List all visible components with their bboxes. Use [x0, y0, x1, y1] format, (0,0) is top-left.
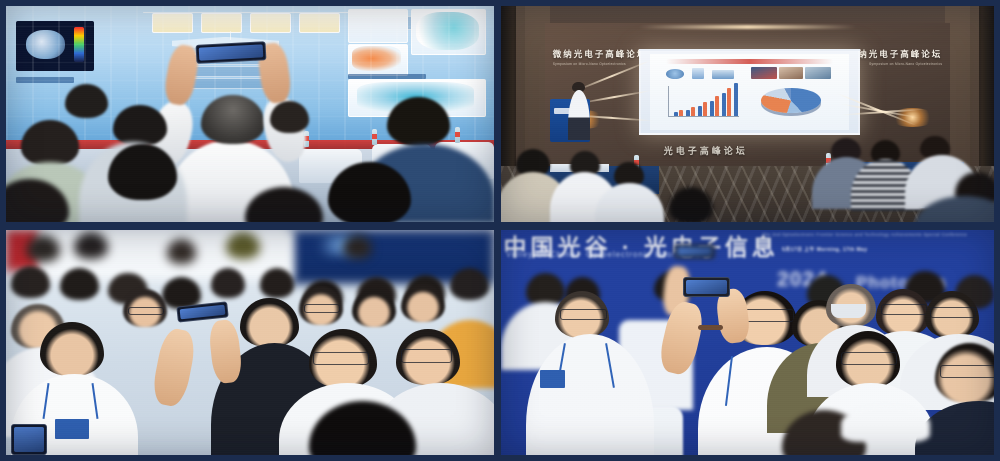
slide-icon-2 [692, 68, 704, 79]
slide-card-4 [299, 13, 340, 33]
audience-head [108, 144, 176, 200]
slide-icon-1 [666, 69, 684, 79]
chart-bar [698, 106, 702, 117]
glasses [128, 307, 164, 316]
led-presentation-screen: AR/VR——虚实融合与人机交互，将成为下一代移动计算平台 [639, 49, 860, 135]
chart-bar [715, 96, 719, 116]
audience-head [11, 266, 50, 298]
glasses [560, 309, 606, 320]
audience-head [60, 268, 99, 300]
slide-photo-3 [805, 67, 831, 78]
chart-bar [686, 110, 690, 117]
stage-banner-left-cn: 微纳光电子高峰论坛 [553, 48, 648, 60]
slide-label-left [16, 77, 75, 83]
chart-bar [679, 110, 683, 117]
audience-head [270, 101, 309, 133]
wall-panel-right [945, 6, 980, 174]
slide-photo-1 [751, 67, 777, 78]
collage-panel-bottom-left: Dense seated audience at an exhibition, … [0, 226, 497, 461]
slide-image-cell-1 [348, 9, 409, 43]
audience-head [226, 232, 260, 259]
chart-x-axis [668, 116, 740, 117]
glasses [401, 349, 452, 362]
smartphone-back [674, 244, 715, 260]
audience-head [21, 120, 80, 165]
slide-connector-v [230, 31, 231, 40]
slide-card-1 [152, 13, 193, 33]
slide-sim-shape-teal [416, 12, 479, 50]
slide-image-cell-2 [348, 44, 409, 75]
thermal-blob [26, 30, 65, 59]
glasses [304, 304, 340, 313]
photo-conference-hall-stage: Conference hall with speaker at podium a… [501, 6, 994, 222]
slide-card-3 [250, 13, 291, 33]
wrist-bracelet [698, 325, 723, 331]
audience-head [74, 232, 108, 259]
smartphone-top-left [196, 41, 267, 64]
collage-panel-top-left: Audience photographing a large blue tech… [0, 0, 497, 226]
audience-head [26, 235, 60, 262]
white-cap [841, 406, 930, 442]
photo-audience-technical-screen: Audience photographing a large blue tech… [6, 6, 494, 222]
audience-head [113, 105, 167, 146]
chart-bar [722, 93, 726, 116]
glasses [940, 365, 994, 378]
glasses [841, 352, 897, 365]
chart-bar [710, 101, 714, 117]
thermal-colorbar [74, 27, 84, 62]
presentation-slide: AR/VR——虚实融合与人机交互，将成为下一代移动计算平台 [650, 54, 850, 130]
slide-label-right [348, 74, 426, 79]
collage-panel-bottom-right: Audience in front of a blue conference b… [497, 226, 1000, 461]
stage-banner-right-cn: 微纳光电子高峰论坛 [848, 48, 943, 60]
slide-sim-shape-orange [352, 46, 401, 71]
name-badge [540, 370, 565, 388]
audience-head [401, 284, 445, 322]
stage-banner-right-en: Symposium on Micro-Nano Optoelectronics [869, 62, 942, 66]
stage-banner-left-en: Symposium on Micro-Nano Optoelectronics [553, 62, 626, 66]
glasses [881, 304, 927, 315]
audience-head [211, 268, 245, 297]
chart-bar [734, 83, 738, 116]
audience-head [260, 268, 294, 297]
chart-bar [674, 112, 678, 117]
audience-head [450, 268, 489, 300]
audience-head-front-left-2 [40, 322, 103, 376]
slide-photo-2 [779, 67, 803, 78]
smartphone-lower-left [11, 424, 47, 455]
person-main-head [201, 95, 264, 145]
chart-y-axis [668, 86, 669, 116]
glasses [930, 307, 976, 318]
name-badge [55, 419, 89, 439]
camera-device [683, 277, 729, 297]
slide-icon-3 [712, 70, 734, 79]
slide-title-bar [666, 59, 834, 64]
photo-exhibition-audience: Dense seated audience at an exhibition, … [6, 230, 494, 455]
water-bottle-2 [372, 129, 377, 145]
slide-image-cell-3 [411, 9, 486, 55]
photo-collage: Audience photographing a large blue tech… [0, 0, 1000, 461]
water-bottle-3 [455, 127, 460, 143]
audience-head [167, 239, 196, 264]
slide-note-box [357, 16, 418, 30]
collage-panel-top-right: Conference hall with speaker at podium a… [497, 0, 1000, 226]
slide-card-2 [201, 13, 242, 33]
thermal-image-panel [16, 21, 94, 71]
backdrop-subtitle-en: The 2nd Optoelectronic Frontier Science … [762, 232, 967, 237]
chart-bar [691, 107, 695, 116]
chart-bar [703, 102, 707, 116]
slide-subtitle-text: AR/VR——虚实融合与人机交互，将成为下一代移动计算平台 [650, 54, 651, 55]
backdrop-time: 5月17日 上午 Morning, 17th May [782, 246, 867, 253]
stage-light-strip [639, 25, 856, 28]
audience-head [343, 235, 372, 260]
lower-stage-banner-cn: 光电子高峰论坛 [664, 144, 748, 157]
chart-bar [727, 88, 731, 117]
glasses [313, 352, 369, 365]
pie-chart [761, 88, 821, 114]
slide-connector-h [143, 12, 358, 13]
photo-audience-blue-backdrop: Audience in front of a blue conference b… [501, 230, 994, 455]
audience-head [669, 187, 713, 222]
face-mask [831, 304, 866, 318]
